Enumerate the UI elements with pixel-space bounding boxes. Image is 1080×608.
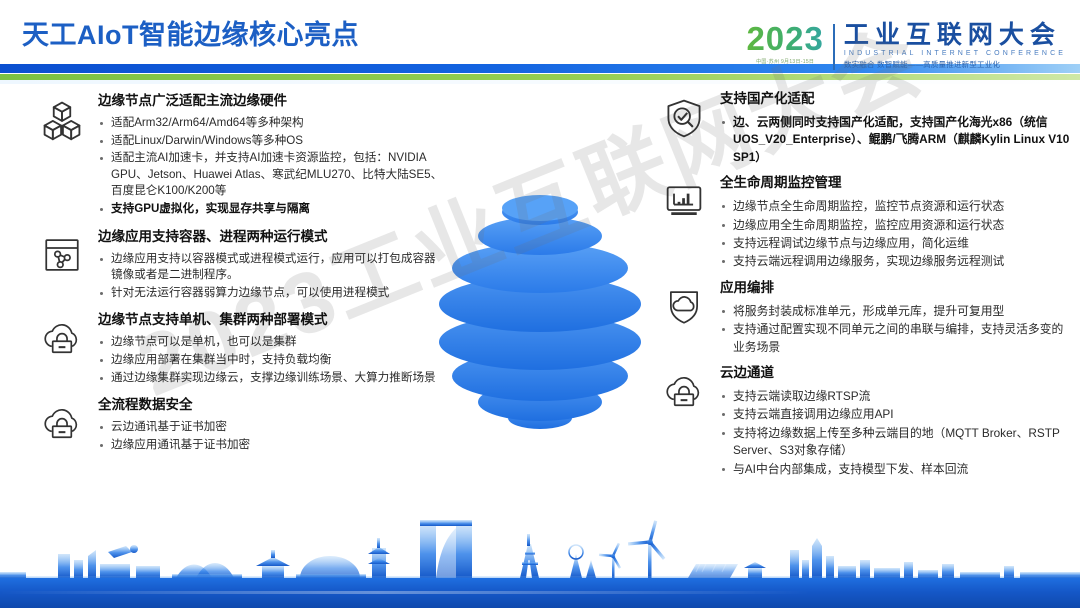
block-text-cell: 边缘应用支持容器、进程两种运行模式 边缘应用支持以容器模式或进程模式运行，应用可…: [98, 224, 446, 303]
bullet-list: 边缘节点全生命周期监控，监控节点资源和运行状态 边缘应用全生命周期监控，监控应用…: [720, 198, 1072, 271]
bullet-item: 支持云端直接调用边缘应用API: [720, 406, 1072, 423]
logo-text-group: 工业互联网大会 INDUSTRIAL INTERNET CONFERENCE 数…: [844, 22, 1066, 70]
cubes-icon: [40, 98, 84, 142]
slide-header: 天工AIoT智能边缘核心亮点 2023 中国·苏州 9月13日-15日 工业互联…: [0, 0, 1080, 88]
slide-root: 天工AIoT智能边缘核心亮点 2023 中国·苏州 9月13日-15日 工业互联…: [0, 0, 1080, 608]
bullet-item: 边缘节点全生命周期监控，监控节点资源和运行状态: [720, 198, 1072, 215]
bullet-item: 边、云两侧同时支持国产化适配，支持国产化海光x86（统信UOS_V20_Ente…: [720, 114, 1072, 166]
bullet-list: 边、云两侧同时支持国产化适配，支持国产化海光x86（统信UOS_V20_Ente…: [720, 114, 1072, 166]
content-block: 支持国产化适配 边、云两侧同时支持国产化适配，支持国产化海光x86（统信UOS_…: [648, 88, 1072, 167]
bullet-item: 适配主流AI加速卡，并支持AI加速卡资源监控，包括：NVIDIA GPU、Jet…: [98, 150, 446, 200]
bullet-item: 边缘应用支持以容器模式或进程模式运行，应用可以打包成容器镜像或者是二进制程序。: [98, 251, 446, 284]
bullet-item: 边缘应用全生命周期监控，监控应用资源和运行状态: [720, 217, 1072, 234]
content-block: 云边通道 支持云端读取边缘RTSP流 支持云端直接调用边缘应用API 支持将边缘…: [648, 362, 1072, 479]
bullet-item: 支持GPU虚拟化，实现显存共享与隔离: [98, 201, 446, 218]
left-column: 边缘节点广泛适配主流边缘硬件 适配Arm32/Arm64/Amd64等多种架构 …: [26, 88, 446, 459]
page-title: 天工AIoT智能边缘核心亮点: [22, 13, 359, 52]
block-text-cell: 边缘节点广泛适配主流边缘硬件 适配Arm32/Arm64/Amd64等多种架构 …: [98, 88, 446, 219]
bullet-item: 针对无法运行容器弱算力边缘节点，可以使用进程模式: [98, 285, 446, 302]
window-network-icon: [41, 234, 83, 276]
bullet-item: 支持远程调试边缘节点与边缘应用，简化运维: [720, 235, 1072, 252]
logo-slogan: 数实融合 数智赋能——高质量推进新型工业化: [844, 59, 1066, 70]
block-icon-cell: [26, 307, 98, 387]
bullet-list: 边缘应用支持以容器模式或进程模式运行，应用可以打包成容器镜像或者是二进制程序。 …: [98, 251, 446, 302]
bullet-list: 支持云端读取边缘RTSP流 支持云端直接调用边缘应用API 支持将边缘数据上传至…: [720, 388, 1072, 478]
bullet-list: 云边通讯基于证书加密 边缘应用通讯基于证书加密: [98, 419, 446, 453]
block-text-cell: 应用编排 将服务封装成标准单元，形成单元库，提升可复用型 支持通过配置实现不同单…: [720, 277, 1072, 357]
water-band: [0, 578, 1080, 608]
content-block: 边缘应用支持容器、进程两种运行模式 边缘应用支持以容器模式或进程模式运行，应用可…: [26, 224, 446, 303]
city-skyline-svg: [0, 516, 1080, 608]
monitor-chart-icon: [662, 180, 706, 220]
block-text-cell: 支持国产化适配 边、云两侧同时支持国产化适配，支持国产化海光x86（统信UOS_…: [720, 88, 1072, 167]
block-icon-cell: [648, 277, 720, 357]
block-title: 云边通道: [720, 364, 1072, 382]
block-title: 边缘节点支持单机、集群两种部署模式: [98, 311, 446, 329]
content-block: 全生命周期监控管理 边缘节点全生命周期监控，监控节点资源和运行状态 边缘应用全生…: [648, 172, 1072, 272]
block-icon-cell: [648, 88, 720, 167]
block-icon-cell: [648, 362, 720, 479]
shield-check-search-icon: [662, 96, 706, 140]
bullet-item: 支持通过配置实现不同单元之间的串联与编排，支持灵活多变的业务场景: [720, 321, 1072, 356]
conference-logo: 2023 中国·苏州 9月13日-15日 工业互联网大会 INDUSTRIAL …: [746, 22, 1066, 74]
content-block: 边缘节点支持单机、集群两种部署模式 边缘节点可以是单机，也可以是集群 边缘应用部…: [26, 307, 446, 387]
bullet-item: 适配Linux/Darwin/Windows等多种OS: [98, 133, 446, 150]
block-text-cell: 边缘节点支持单机、集群两种部署模式 边缘节点可以是单机，也可以是集群 边缘应用部…: [98, 307, 446, 387]
logo-name-en: INDUSTRIAL INTERNET CONFERENCE: [844, 49, 1066, 59]
logo-name-cn: 工业互联网大会: [844, 22, 1066, 49]
block-icon-cell: [26, 392, 98, 454]
block-title: 边缘节点广泛适配主流边缘硬件: [98, 92, 446, 110]
block-title: 支持国产化适配: [720, 90, 1072, 108]
bullet-list: 边缘节点可以是单机，也可以是集群 边缘应用部署在集群当中时，支持负载均衡 通过边…: [98, 334, 446, 386]
block-title: 全流程数据安全: [98, 396, 446, 414]
block-text-cell: 云边通道 支持云端读取边缘RTSP流 支持云端直接调用边缘应用API 支持将边缘…: [720, 362, 1072, 479]
right-column: 支持国产化适配 边、云两侧同时支持国产化适配，支持国产化海光x86（统信UOS_…: [648, 88, 1072, 484]
bullet-item: 将服务封装成标准单元，形成单元库，提升可复用型: [720, 303, 1072, 320]
block-icon-cell: [26, 88, 98, 219]
cloud-lock-icon: [40, 317, 84, 357]
block-text-cell: 全流程数据安全 云边通讯基于证书加密 边缘应用通讯基于证书加密: [98, 392, 446, 454]
sphere-of-discs-graphic: [432, 186, 648, 438]
bullet-item: 适配Arm32/Arm64/Amd64等多种架构: [98, 115, 446, 132]
logo-year-group: 2023 中国·苏州 9月13日-15日: [746, 22, 832, 65]
bullet-item: 支持云端读取边缘RTSP流: [720, 388, 1072, 405]
logo-divider: [833, 24, 835, 70]
water-sheen: [0, 591, 1080, 594]
bullet-item: 边缘应用通讯基于证书加密: [98, 437, 446, 454]
bullet-list: 适配Arm32/Arm64/Amd64等多种架构 适配Linux/Darwin/…: [98, 115, 446, 218]
block-text-cell: 全生命周期监控管理 边缘节点全生命周期监控，监控节点资源和运行状态 边缘应用全生…: [720, 172, 1072, 272]
block-icon-cell: [26, 224, 98, 303]
bullet-item: 与AI中台内部集成，支持模型下发、样本回流: [720, 461, 1072, 478]
sphere-svg: [432, 186, 648, 438]
bullet-item: 支持云端远程调用边缘服务，实现边缘服务远程测试: [720, 253, 1072, 270]
bullet-list: 将服务封装成标准单元，形成单元库，提升可复用型 支持通过配置实现不同单元之间的串…: [720, 303, 1072, 356]
footer-skyline: [0, 516, 1080, 608]
block-icon-cell: [648, 172, 720, 272]
bullet-item: 通过边缘集群实现边缘云，支撑边缘训练场景、大算力推断场景: [98, 370, 446, 387]
bullet-item: 支持将边缘数据上传至多种云端目的地（MQTT Broker、RSTP Serve…: [720, 425, 1072, 460]
header-accent-fade: [0, 80, 1080, 84]
content-block: 全流程数据安全 云边通讯基于证书加密 边缘应用通讯基于证书加密: [26, 392, 446, 454]
block-title: 应用编排: [720, 279, 1072, 297]
bullet-item: 边缘应用部署在集群当中时，支持负载均衡: [98, 352, 446, 369]
block-title: 边缘应用支持容器、进程两种运行模式: [98, 228, 446, 246]
cloud-lock-icon: [662, 370, 706, 410]
logo-year: 2023: [746, 22, 823, 56]
logo-year-subtext: 中国·苏州 9月13日-15日: [756, 58, 814, 65]
content-block: 应用编排 将服务封装成标准单元，形成单元库，提升可复用型 支持通过配置实现不同单…: [648, 277, 1072, 357]
block-title: 全生命周期监控管理: [720, 174, 1072, 192]
content-block: 边缘节点广泛适配主流边缘硬件 适配Arm32/Arm64/Amd64等多种架构 …: [26, 88, 446, 219]
bullet-item: 边缘节点可以是单机，也可以是集群: [98, 334, 446, 351]
shield-cloud-icon: [663, 285, 705, 329]
skyline-shapes: [0, 520, 1080, 580]
cloud-lock-icon: [40, 402, 84, 442]
bullet-item: 云边通讯基于证书加密: [98, 419, 446, 436]
